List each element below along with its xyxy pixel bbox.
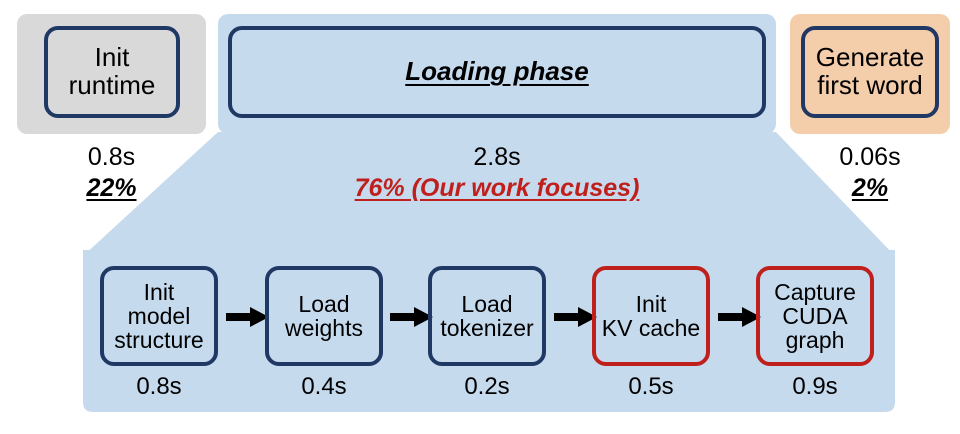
phase-time-init-runtime: 0.8s — [17, 142, 206, 172]
phase-stats-init-runtime: 0.8s 22% — [17, 142, 206, 204]
loading-step-init-model-structure[interactable]: Init model structure — [100, 266, 218, 366]
phase-box-loading-phase[interactable]: Loading phase — [228, 26, 766, 118]
step-label-line1: Capture — [774, 279, 856, 305]
loading-step-time-load-tokenizer: 0.2s — [428, 373, 546, 401]
loading-step-capture-cuda-graph[interactable]: Capture CUDA graph — [756, 266, 874, 366]
loading-step-label: Init model structure — [114, 280, 203, 352]
loading-step-label: Load tokenizer — [440, 292, 533, 340]
diagram-canvas: Init runtime 0.8s 22% Loading phase 2.8s… — [0, 0, 960, 434]
phase-label-line1: Generate — [816, 42, 924, 72]
step-label-line1: Init — [144, 279, 175, 305]
arrow-right-icon — [226, 306, 270, 328]
step-label-line2: tokenizer — [440, 315, 533, 341]
loading-step-time-load-weights: 0.4s — [265, 373, 383, 401]
phase-stats-generate-first-word: 0.06s 2% — [786, 142, 954, 204]
step-label-line2: model — [128, 303, 191, 329]
phase-label-line2: first word — [817, 70, 922, 100]
step-label-line3: structure — [114, 327, 203, 353]
phase-box-init-runtime[interactable]: Init runtime — [44, 26, 180, 118]
phase-time-loading-phase: 2.8s — [218, 142, 776, 172]
loading-step-label: Load weights — [285, 292, 363, 340]
phase-label-generate-first-word: Generate first word — [816, 44, 924, 99]
phase-percent-loading-phase: 76% (Our work focuses) — [218, 172, 776, 204]
step-label-line1: Load — [298, 291, 349, 317]
loading-step-load-tokenizer[interactable]: Load tokenizer — [428, 266, 546, 366]
loading-step-label: Init KV cache — [602, 292, 700, 340]
step-label-line3: graph — [786, 327, 845, 353]
step-label-line1: Load — [461, 291, 512, 317]
phase-label-line1: Init — [95, 42, 130, 72]
loading-step-load-weights[interactable]: Load weights — [265, 266, 383, 366]
loading-step-label: Capture CUDA graph — [774, 280, 856, 352]
loading-step-time-capture-cuda-graph: 0.9s — [756, 373, 874, 401]
step-label-line2: weights — [285, 315, 363, 341]
loading-step-time-init-model-structure: 0.8s — [100, 373, 218, 401]
phase-label-line2: runtime — [69, 70, 156, 100]
phase-stats-loading-phase: 2.8s 76% (Our work focuses) — [218, 142, 776, 204]
phase-label-loading-phase: Loading phase — [405, 58, 588, 86]
phase-label-init-runtime: Init runtime — [69, 44, 156, 99]
loading-step-time-init-kv-cache: 0.5s — [592, 373, 710, 401]
phase-percent-init-runtime: 22% — [17, 172, 206, 204]
step-label-line2: KV cache — [602, 315, 700, 341]
step-label-line2: CUDA — [782, 303, 847, 329]
step-label-line1: Init — [636, 291, 667, 317]
phase-time-generate-first-word: 0.06s — [786, 142, 954, 172]
phase-percent-generate-first-word: 2% — [786, 172, 954, 204]
loading-step-init-kv-cache[interactable]: Init KV cache — [592, 266, 710, 366]
phase-box-generate-first-word[interactable]: Generate first word — [801, 26, 939, 118]
